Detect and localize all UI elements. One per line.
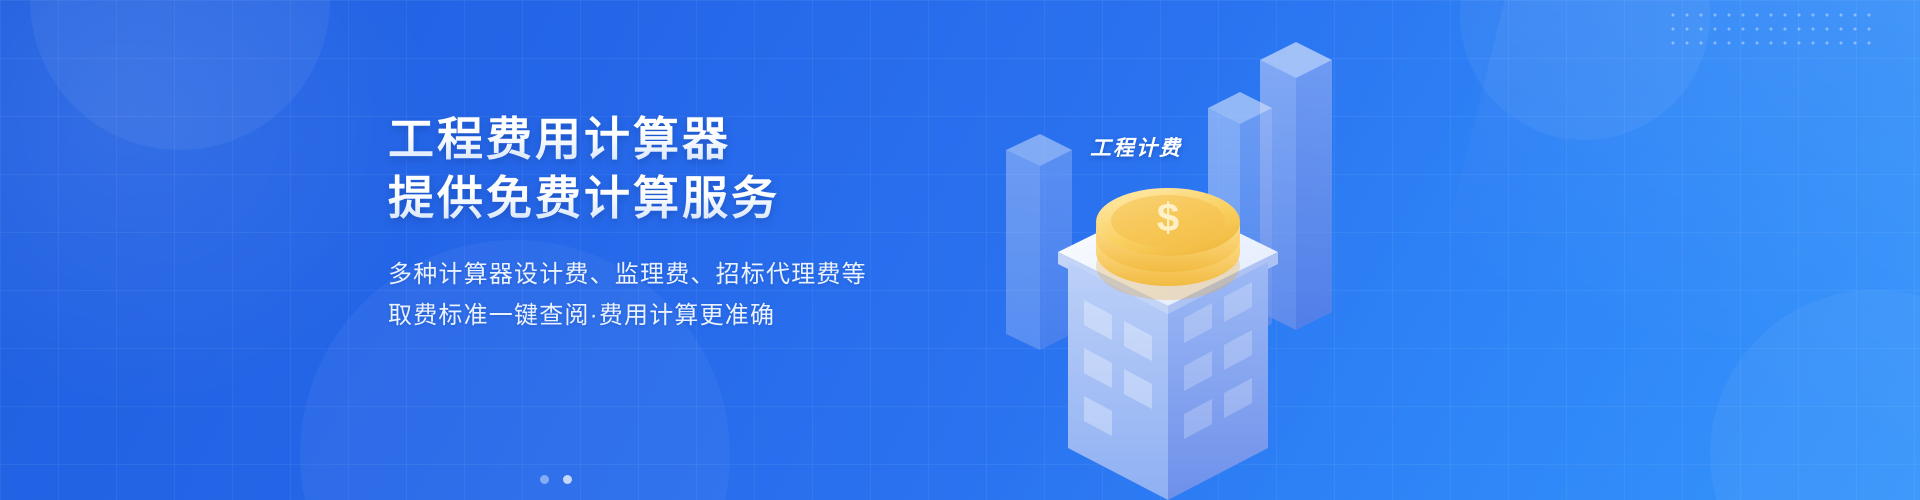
light-ray-decoration [1360, 0, 1920, 500]
illustration-label: 工程计费 [1090, 132, 1182, 162]
gold-coin-stack: $ [1096, 188, 1240, 300]
banner-copy-block: 工程费用计算器 提供免费计算服务 多种计算器设计费、监理费、招标代理费等 取费标… [388, 110, 1008, 336]
banner-headline-line-2: 提供免费计算服务 [388, 169, 1008, 228]
banner-headline-line-1: 工程费用计算器 [388, 110, 1008, 169]
dot-grid-pattern-icon [1666, 8, 1876, 54]
carousel-dot-2[interactable] [563, 475, 572, 484]
isometric-building-illustration: $ 工程计费 [960, 0, 1380, 500]
coin-dollar-symbol: $ [1157, 196, 1179, 240]
carousel-pagination[interactable] [540, 475, 572, 484]
banner-subtitle-line-1: 多种计算器设计费、监理费、招标代理费等 [388, 254, 1008, 295]
carousel-dot-1[interactable] [540, 475, 549, 484]
banner-subtitle-line-2: 取费标准一键查阅·费用计算更准确 [388, 295, 1008, 336]
hero-banner: 工程费用计算器 提供免费计算服务 多种计算器设计费、监理费、招标代理费等 取费标… [0, 0, 1920, 500]
